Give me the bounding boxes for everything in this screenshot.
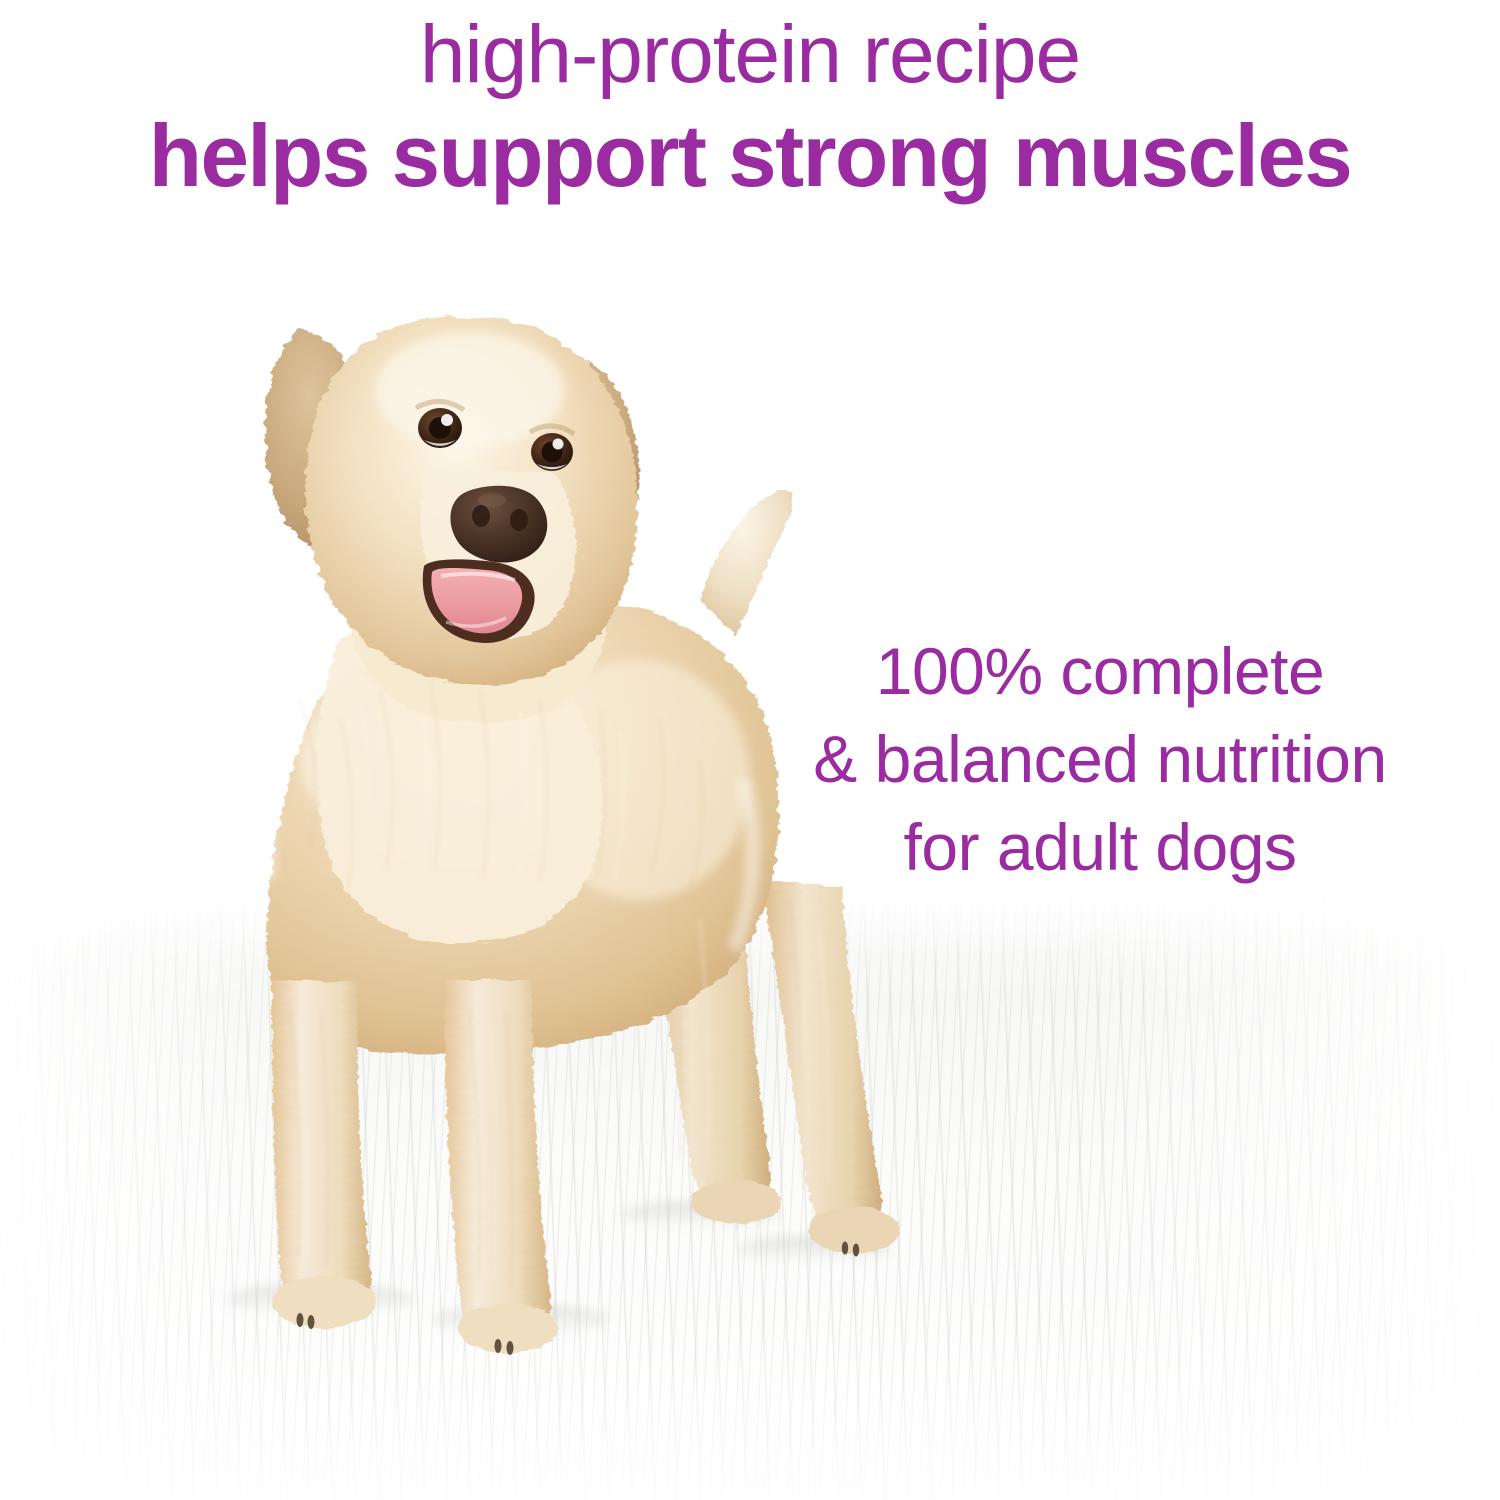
headline: high-protein recipe helps support strong… [0,14,1500,200]
side-copy-line-3: for adult dogs [760,804,1440,892]
side-copy-line-1: 100% complete [760,628,1440,716]
product-feature-panel: high-protein recipe helps support strong… [0,0,1500,1500]
side-copy: 100% complete & balanced nutrition for a… [760,628,1440,891]
dog-tail [700,490,794,636]
headline-line-1: high-protein recipe [0,14,1500,96]
headline-line-2: helps support strong muscles [8,112,1493,200]
side-copy-line-2: & balanced nutrition [760,716,1440,804]
